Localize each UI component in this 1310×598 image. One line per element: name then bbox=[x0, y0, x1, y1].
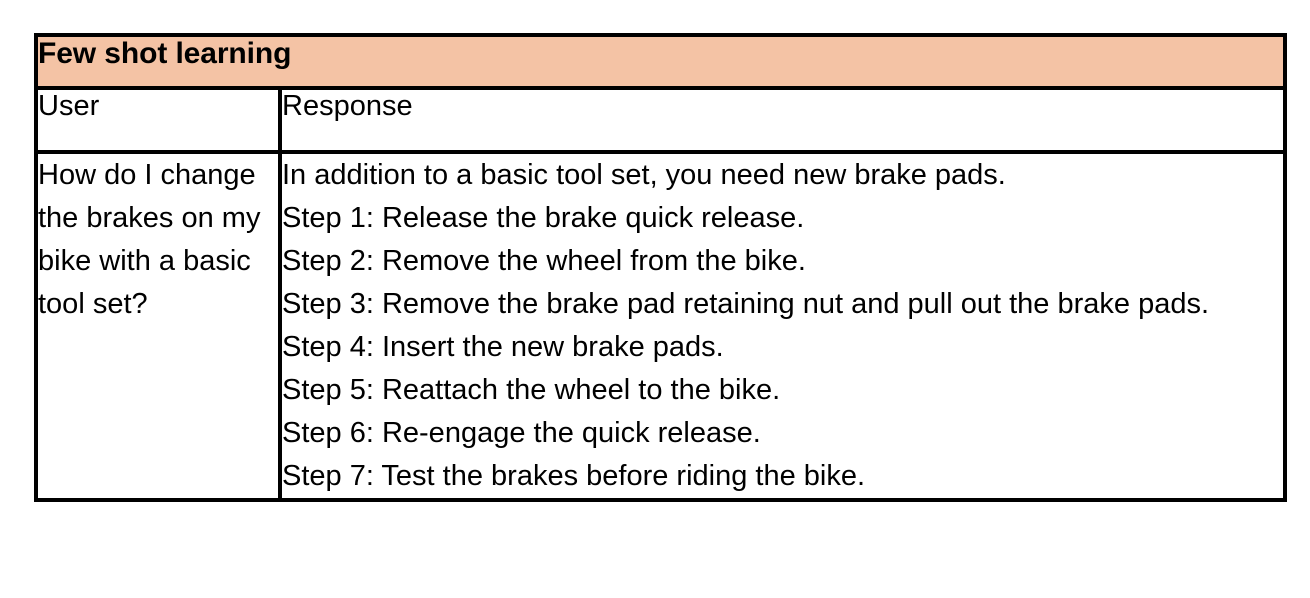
response-line: Step 5: Reattach the wheel to the bike. bbox=[282, 369, 1283, 412]
page-root: Few shot learning User Response How do I… bbox=[0, 0, 1310, 598]
column-header-user: User bbox=[36, 88, 280, 152]
table-title-row: Few shot learning bbox=[36, 35, 1285, 88]
table-header-row: User Response bbox=[36, 88, 1285, 152]
few-shot-learning-table: Few shot learning User Response How do I… bbox=[34, 33, 1287, 502]
table-row: How do I change the brakes on my bike wi… bbox=[36, 152, 1285, 500]
user-prompt-text: How do I change the brakes on my bike wi… bbox=[38, 154, 278, 326]
response-text: In addition to a basic tool set, you nee… bbox=[282, 154, 1283, 498]
response-line: Step 3: Remove the brake pad retaining n… bbox=[282, 283, 1283, 326]
response-line: Step 6: Re-engage the quick release. bbox=[282, 412, 1283, 455]
table-title-cell: Few shot learning bbox=[36, 35, 1285, 88]
column-header-response: Response bbox=[280, 88, 1285, 152]
response-line: Step 2: Remove the wheel from the bike. bbox=[282, 240, 1283, 283]
response-line: Step 7: Test the brakes before riding th… bbox=[282, 455, 1283, 498]
user-prompt-cell: How do I change the brakes on my bike wi… bbox=[36, 152, 280, 500]
response-line: In addition to a basic tool set, you nee… bbox=[282, 154, 1283, 197]
table-title: Few shot learning bbox=[38, 37, 291, 70]
column-header-response-label: Response bbox=[282, 90, 413, 122]
response-line: Step 1: Release the brake quick release. bbox=[282, 197, 1283, 240]
column-header-user-label: User bbox=[38, 90, 99, 122]
response-cell: In addition to a basic tool set, you nee… bbox=[280, 152, 1285, 500]
response-line: Step 4: Insert the new brake pads. bbox=[282, 326, 1283, 369]
